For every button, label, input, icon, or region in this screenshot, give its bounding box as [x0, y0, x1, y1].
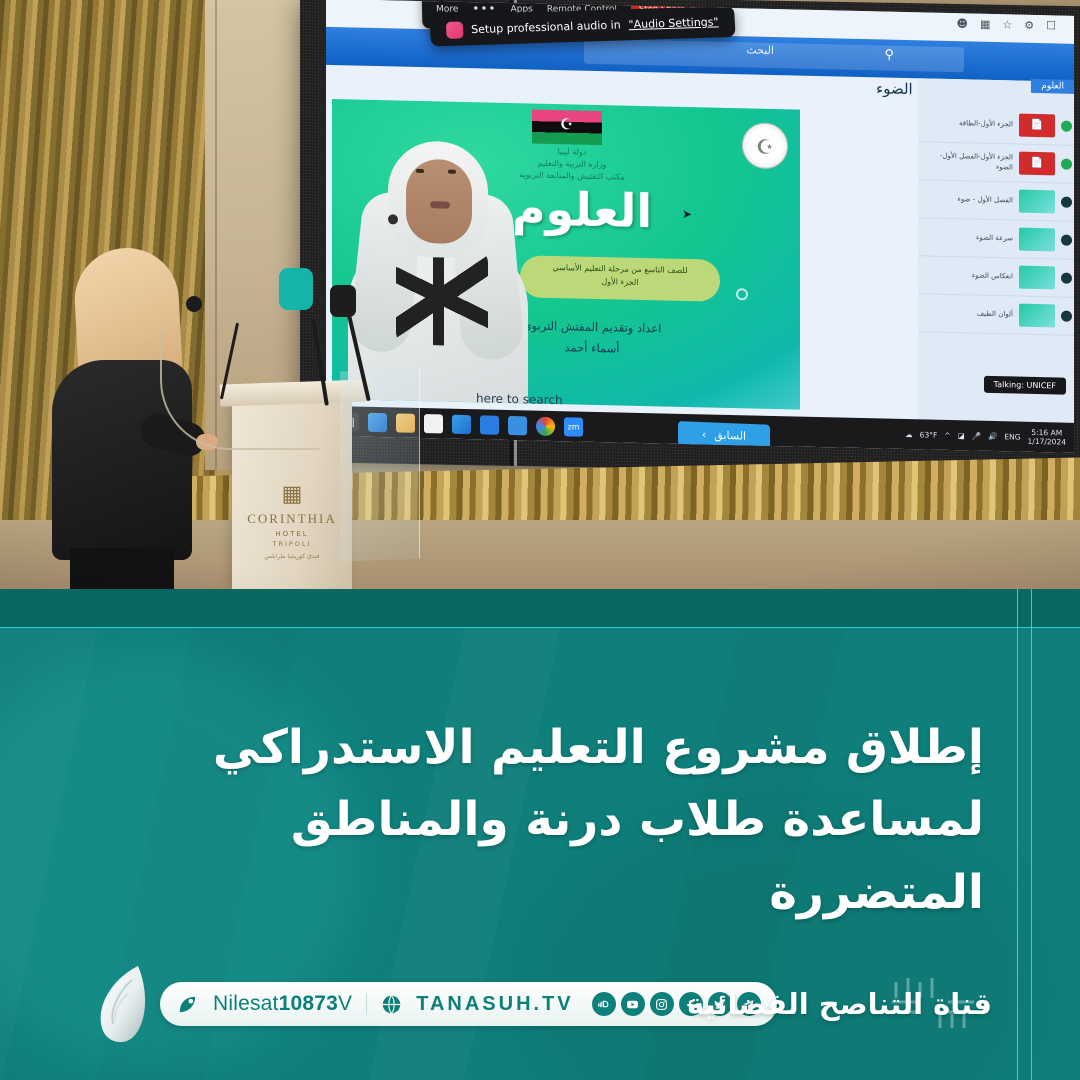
nilesat-frequency: 10873	[279, 992, 338, 1015]
youtube-icon[interactable]	[621, 992, 645, 1016]
instagram-icon[interactable]	[650, 992, 674, 1016]
soundcloud-icon[interactable]	[592, 992, 616, 1016]
brand-bar: Nilesat10873V TANASUH.TV	[0, 972, 1080, 1036]
pill-divider	[366, 993, 367, 1015]
nilesat-prefix: Nilesat	[213, 992, 279, 1015]
globe-icon	[381, 994, 402, 1015]
event-photograph: ⚲ البحث ☐ ⚙ ☆ ▦ ☻ الفصل الأول - الضوء ال…	[0, 0, 1080, 589]
headline-panel: إطلاق مشروع التعليم الاستدراكي لمساعدة ط…	[0, 589, 1080, 1080]
broadcast-info-pill: Nilesat10873V TANASUH.TV	[160, 982, 777, 1026]
accent-horizontal-line	[0, 627, 1080, 628]
photo-vignette	[0, 0, 1080, 589]
feather-logo-icon	[88, 964, 162, 1046]
headline-line-2: لمساعدة طلاب درنة والمناطق المتضررة	[84, 784, 984, 929]
website-label[interactable]: TANASUH.TV	[416, 993, 573, 1016]
headline-line-1: إطلاق مشروع التعليم الاستدراكي	[84, 712, 984, 784]
headline: إطلاق مشروع التعليم الاستدراكي لمساعدة ط…	[84, 712, 984, 929]
news-card: ⚲ البحث ☐ ⚙ ☆ ▦ ☻ الفصل الأول - الضوء ال…	[0, 0, 1080, 1080]
nilesat-frequency-label: Nilesat10873V	[213, 992, 352, 1016]
satellite-dish-icon	[176, 993, 199, 1016]
panel-top-band	[0, 589, 1080, 628]
nilesat-polarity: V	[338, 992, 352, 1015]
channel-name: قناة التناصح الفضائية	[687, 980, 992, 1028]
